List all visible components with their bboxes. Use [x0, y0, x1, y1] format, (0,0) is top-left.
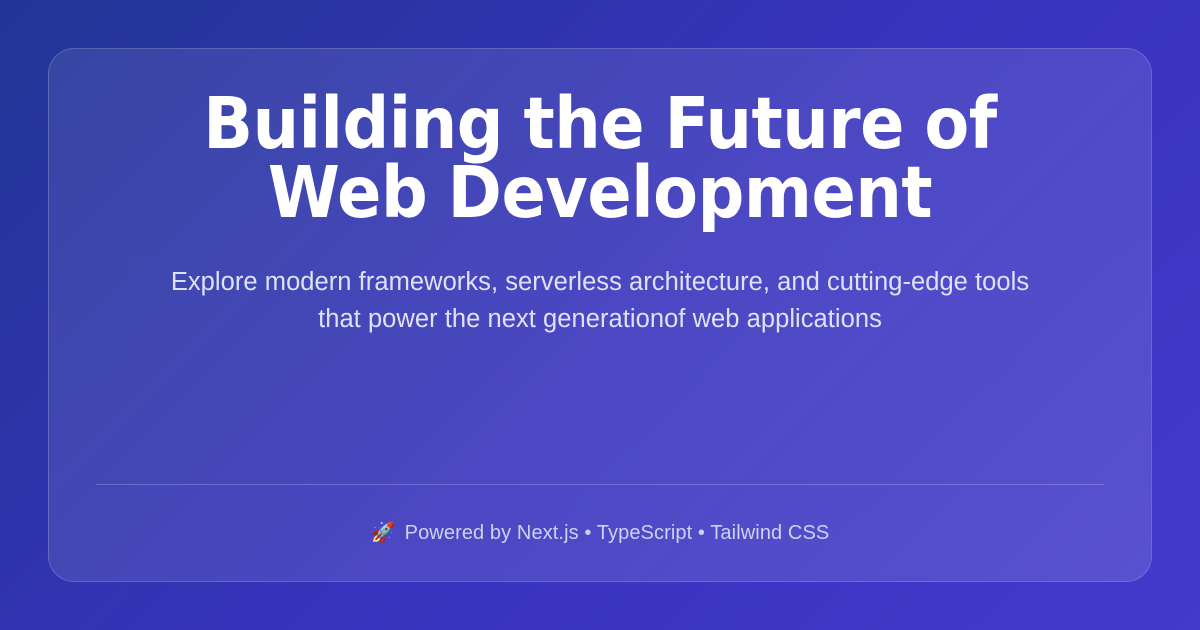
og-image-canvas: Building the Future of Web Development E…	[0, 0, 1200, 630]
footer-credit-text: Powered by Next.js • TypeScript • Tailwi…	[405, 522, 830, 545]
content-card: Building the Future of Web Development E…	[48, 48, 1152, 582]
page-subtitle: Explore modern frameworks, serverless ar…	[170, 264, 1030, 338]
page-title: Building the Future of Web Development	[137, 89, 1063, 227]
rocket-icon: 🚀	[371, 523, 396, 543]
card-footer: 🚀 Powered by Next.js • TypeScript • Tail…	[371, 485, 830, 581]
